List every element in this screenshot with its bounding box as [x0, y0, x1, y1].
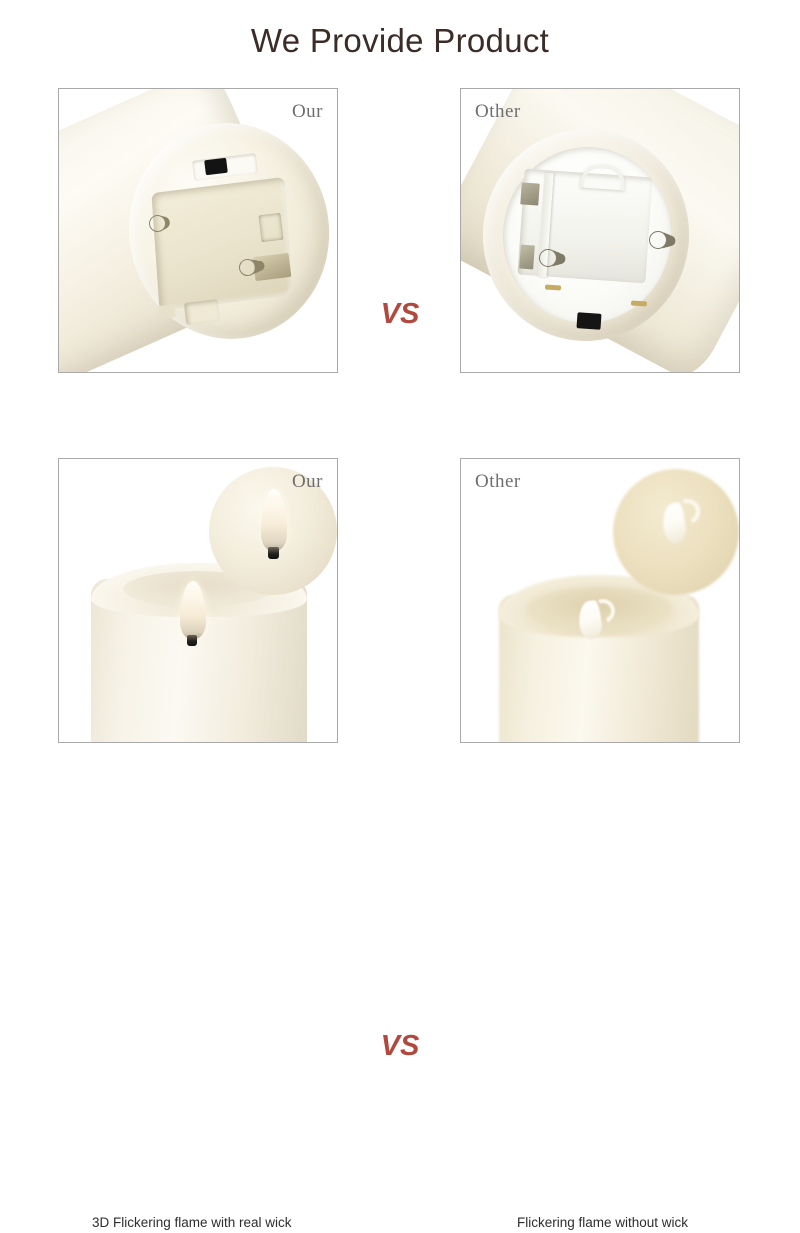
badge-our: Our — [292, 471, 323, 493]
power-switch-knob — [576, 312, 601, 330]
page-title: We Provide Product — [0, 22, 800, 60]
vs-separator-flame: VS — [360, 1030, 440, 1063]
product-photo-our-flame: Our — [58, 458, 338, 743]
battery-contact-upper — [258, 213, 283, 242]
contact-strip-left — [545, 284, 561, 290]
battery-contact-lower — [253, 253, 292, 281]
flame-3d-closeup — [261, 489, 287, 551]
contact-strip-right — [631, 300, 647, 306]
badge-our: Our — [292, 101, 323, 123]
vs-separator-battery: VS — [360, 298, 440, 331]
flame-closeup-inset — [613, 469, 739, 595]
battery-contact-upper — [520, 182, 539, 205]
battery-contact-lower — [519, 245, 535, 270]
badge-other: Other — [475, 101, 521, 123]
product-photo-other-battery: Other — [460, 88, 740, 373]
base-notch — [158, 304, 175, 319]
caption-other-flame: Flickering flame without wick — [517, 1213, 688, 1233]
product-photo-our-battery: Our — [58, 88, 338, 373]
product-photo-other-flame: Other — [460, 458, 740, 743]
wick-real-closeup — [268, 547, 279, 559]
power-switch-knob — [204, 158, 228, 176]
caption-our-flame: 3D Flickering flame with real wick — [92, 1213, 292, 1233]
base-slot — [184, 299, 220, 325]
wick-real — [187, 635, 197, 646]
badge-other: Other — [475, 471, 521, 493]
battery-compartment-recess — [151, 177, 292, 311]
